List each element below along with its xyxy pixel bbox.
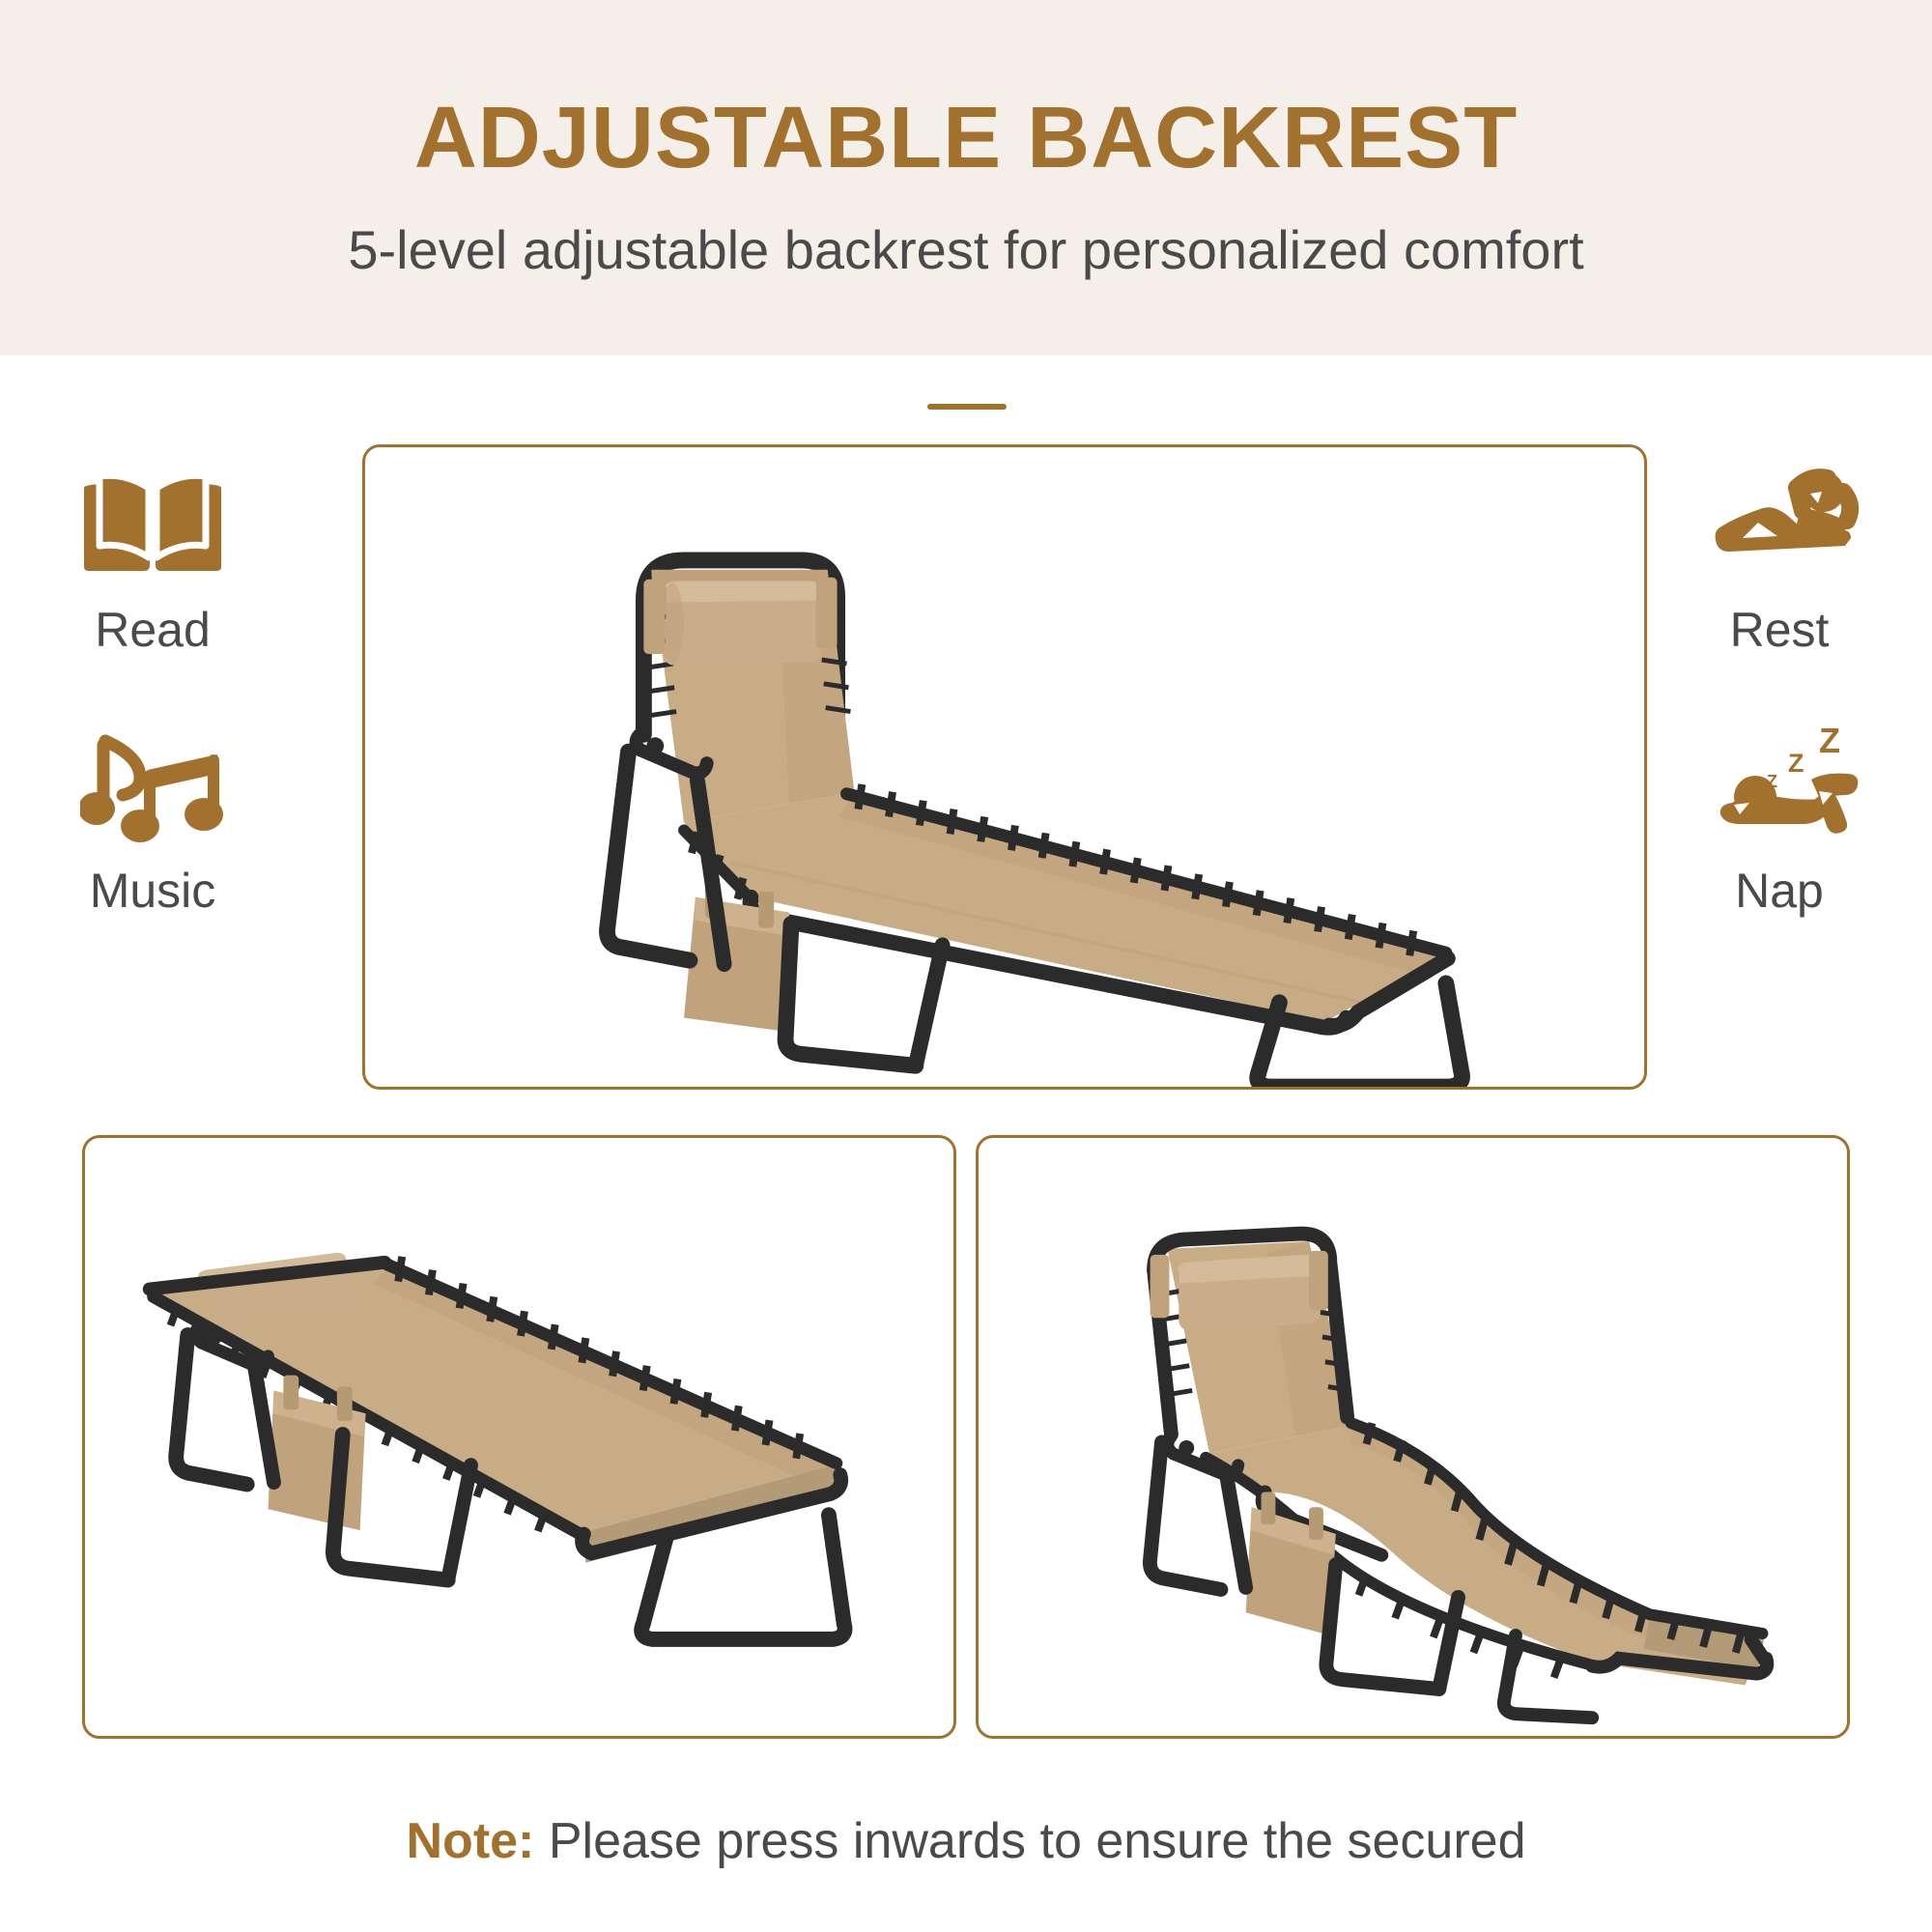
sleeping-person-zzz-icon: Z Z Z (1654, 705, 1905, 865)
chaise-lounge-flat-illustration (85, 1138, 953, 1736)
feature-rest-label: Rest (1654, 606, 1905, 654)
feature-rest: Rest (1654, 444, 1905, 705)
feature-read: Read (27, 444, 278, 705)
section-divider (927, 404, 1007, 410)
footer-note-label: Note: (407, 1813, 535, 1869)
feature-nap: Z Z Z (1654, 705, 1905, 966)
footer-note-text: Please press inwards to ensure the secur… (549, 1813, 1526, 1869)
svg-text:Z: Z (1788, 749, 1804, 778)
feature-column-right: Rest Z Z Z (1654, 444, 1905, 966)
reclining-person-icon (1654, 444, 1905, 604)
chaise-lounge-upright-illustration (365, 447, 1644, 1087)
svg-text:Z: Z (1819, 724, 1840, 760)
music-notes-icon (27, 705, 278, 865)
product-panel-recline (976, 1135, 1850, 1739)
feature-music-label: Music (27, 867, 278, 915)
page-title: ADJUSTABLE BACKREST (0, 93, 1932, 185)
feature-music: Music (27, 705, 278, 966)
feature-read-label: Read (27, 606, 278, 654)
chaise-lounge-reclined-illustration (979, 1138, 1847, 1736)
open-book-icon (27, 444, 278, 604)
feature-column-left: Read (27, 444, 278, 966)
page-subtitle: 5-level adjustable backrest for personal… (0, 220, 1932, 280)
product-panel-main (362, 444, 1647, 1090)
infographic-page: ADJUSTABLE BACKREST 5-level adjustable b… (0, 0, 1932, 1932)
product-panel-flat (82, 1135, 956, 1739)
footer-note: Note: Please press inwards to ensure the… (0, 1814, 1932, 1869)
feature-nap-label: Nap (1654, 867, 1905, 915)
